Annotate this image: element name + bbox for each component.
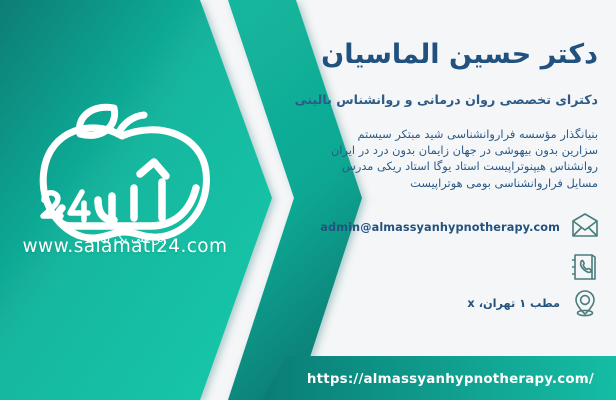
contact-row-address[interactable]: مطب ۱ تهران، x [300, 288, 600, 318]
address-text: مطب ۱ تهران، x [467, 297, 560, 310]
bio-line: روانشناس هیپنوتراپیست استاد یوگا استاد ر… [178, 158, 598, 174]
business-card: براحتی یک لبخند www.salamati24.com دکتر … [0, 0, 616, 400]
contact-row-phone[interactable] [300, 252, 600, 282]
page-subtitle: دکترای تخصصی روان درمانی و روانشناس بالی… [178, 92, 598, 108]
bio-line: بنیانگذار مؤسسه فراروانشناسی شید مبتکر س… [178, 126, 598, 142]
contact-row-email[interactable]: admin@almassyanhypnotherapy.com [300, 212, 600, 242]
page-title: دکتر حسین الماسیان [178, 38, 598, 72]
logo-website: www.salamati24.com [14, 236, 236, 257]
footer-url-text[interactable]: https://almassyanhypnotherapy.com/ [307, 372, 594, 387]
bio-line: سزارین بدون بیهوشی در جهان زایمان بدون د… [178, 142, 598, 158]
email-text: admin@almassyanhypnotherapy.com [320, 221, 560, 234]
phone-book-icon [570, 252, 600, 282]
envelope-icon [570, 212, 600, 242]
bio-line: مسایل فراروانشناسی بومی هوتراپیست [178, 175, 598, 191]
bio-text: بنیانگذار مؤسسه فراروانشناسی شید مبتکر س… [178, 126, 598, 191]
location-pin-icon [570, 288, 600, 318]
